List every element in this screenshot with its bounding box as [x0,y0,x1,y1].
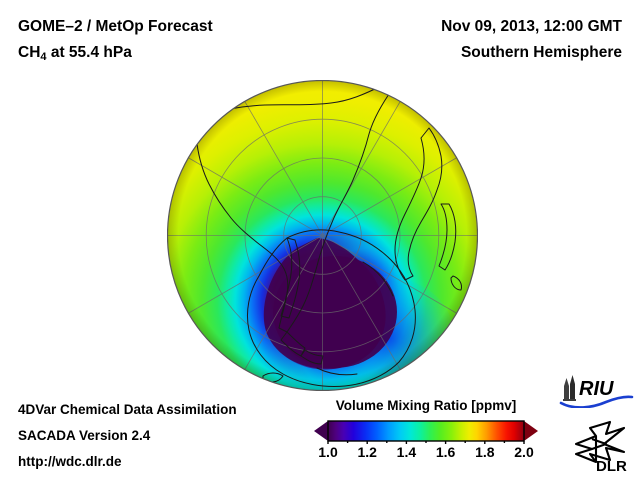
colorbar-tick-labels: 1.0 1.2 1.4 1.6 1.8 2.0 [314,444,538,466]
colorbar-cap-low [314,421,328,441]
riu-spires-icon [563,375,576,401]
map-figure: GOME–2 / MetOp Forecast CH4 at 55.4 hPa … [0,0,640,480]
limb-shading [168,81,478,391]
colorbar-tick-5: 1.8 [475,444,494,460]
colorbar-tick-6: 2.0 [514,444,533,460]
footer-line-assimilation: 4DVar Chemical Data Assimilation [18,402,237,417]
colorbar-gradient [328,421,524,441]
species-prefix: CH [18,44,40,61]
species-subtitle: CH4 at 55.4 hPa [18,44,132,63]
ch4-concentration-field [168,81,478,391]
riu-wordmark: RIU [579,378,614,400]
footer-line-version: SACADA Version 2.4 [18,428,150,443]
dlr-mark-icon [576,422,624,462]
colorbar-tick-4: 1.6 [436,444,455,460]
footer-line-url[interactable]: http://wdc.dlr.de [18,454,122,469]
page-title: GOME–2 / MetOp Forecast [18,18,213,36]
colorbar-tick-2: 1.2 [357,444,376,460]
colorbar-scale [314,418,538,444]
globe-svg [167,80,478,391]
species-suffix: at 55.4 hPa [47,44,132,61]
colorbar-tick-1: 1.0 [318,444,337,460]
riu-logo[interactable]: RIU [558,374,634,408]
colorbar: Volume Mixing Ratio [ppmv] [314,398,538,476]
dlr-logo[interactable]: DLR [566,414,634,474]
hemisphere-label: Southern Hemisphere [461,44,622,62]
colorbar-title: Volume Mixing Ratio [ppmv] [314,398,538,413]
timestamp-label: Nov 09, 2013, 12:00 GMT [441,18,622,36]
globe-map [167,80,478,391]
dlr-wordmark: DLR [596,458,627,474]
colorbar-cap-high [524,421,538,441]
colorbar-tick-3: 1.4 [397,444,416,460]
